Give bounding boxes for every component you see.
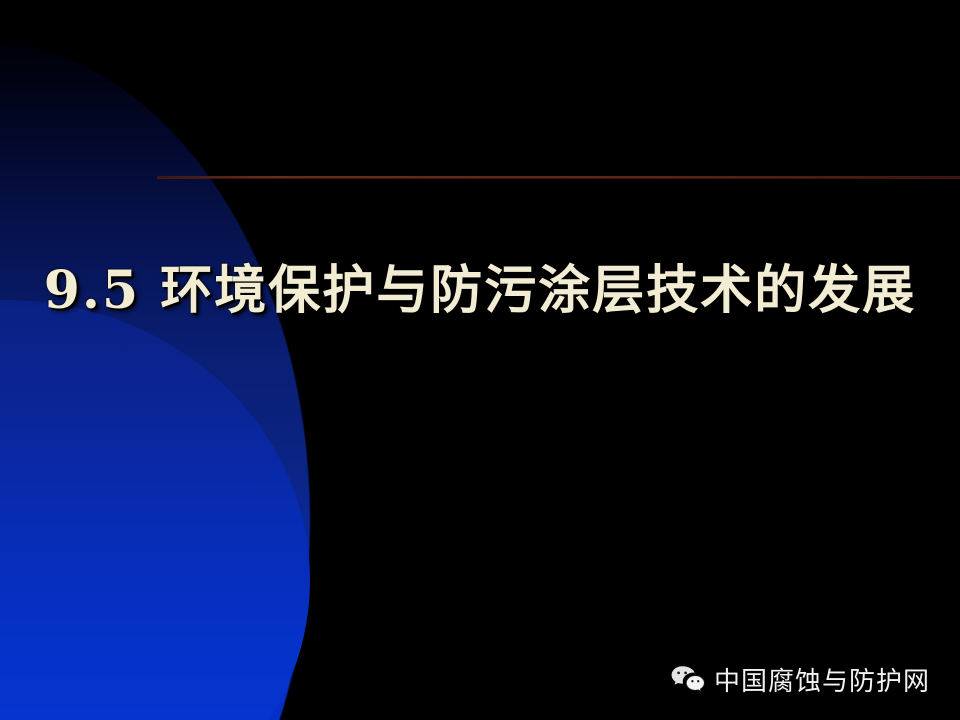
presentation-slide: 9.5 环境保护与防污涂层技术的发展 中国腐蚀与防护网 bbox=[0, 0, 960, 720]
wechat-icon bbox=[671, 665, 705, 694]
slide-title-block: 9.5 环境保护与防污涂层技术的发展 bbox=[0, 264, 960, 319]
accent-horizontal-rule-glow bbox=[157, 178, 960, 179]
page-title: 9.5 环境保护与防污涂层技术的发展 bbox=[44, 264, 917, 319]
watermark: 中国腐蚀与防护网 bbox=[671, 661, 930, 698]
watermark-text: 中国腐蚀与防护网 bbox=[714, 661, 930, 698]
